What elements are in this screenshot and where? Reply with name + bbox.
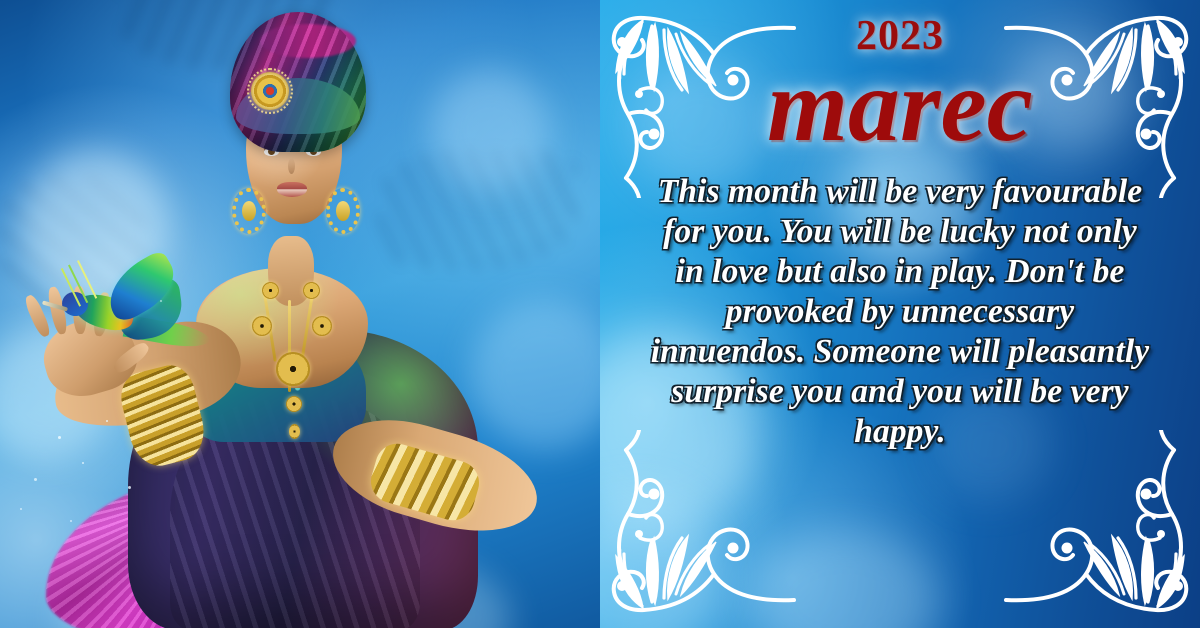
necklace-medallion — [303, 282, 320, 299]
horoscope-banner: 2023 marec This month will be very favou… — [0, 0, 1200, 628]
earring-inner-left — [242, 201, 256, 221]
illustration-panel — [0, 0, 610, 628]
text-panel: 2023 marec This month will be very favou… — [600, 0, 1200, 628]
earring-inner-right — [336, 201, 350, 221]
sparkle — [82, 462, 84, 464]
lips — [277, 182, 307, 197]
necklace-medallion — [286, 396, 302, 412]
sparkle — [58, 436, 61, 439]
necklace-medallion — [276, 352, 310, 386]
sparkle — [34, 478, 37, 481]
forecast-text: This month will be very favourable for y… — [646, 172, 1154, 452]
panel-glow — [750, 530, 940, 628]
necklace-medallion — [262, 282, 279, 299]
sparkle — [128, 486, 131, 489]
necklace-medallion — [312, 316, 332, 336]
panel-glow — [600, 490, 720, 628]
sparkle — [20, 508, 22, 510]
sparkle — [106, 420, 108, 422]
month-title: marec — [600, 52, 1200, 160]
sparkle — [160, 300, 162, 302]
necklace-pendant-drop — [289, 424, 300, 439]
corner-flourish-bottom-left-icon — [602, 430, 798, 626]
nose — [288, 158, 295, 174]
artwork-edge-fade — [490, 0, 610, 628]
turban-brooch-jewel — [251, 72, 289, 110]
sparkle — [70, 520, 72, 522]
corner-flourish-bottom-right-icon — [1002, 430, 1198, 626]
necklace-medallion — [252, 316, 272, 336]
